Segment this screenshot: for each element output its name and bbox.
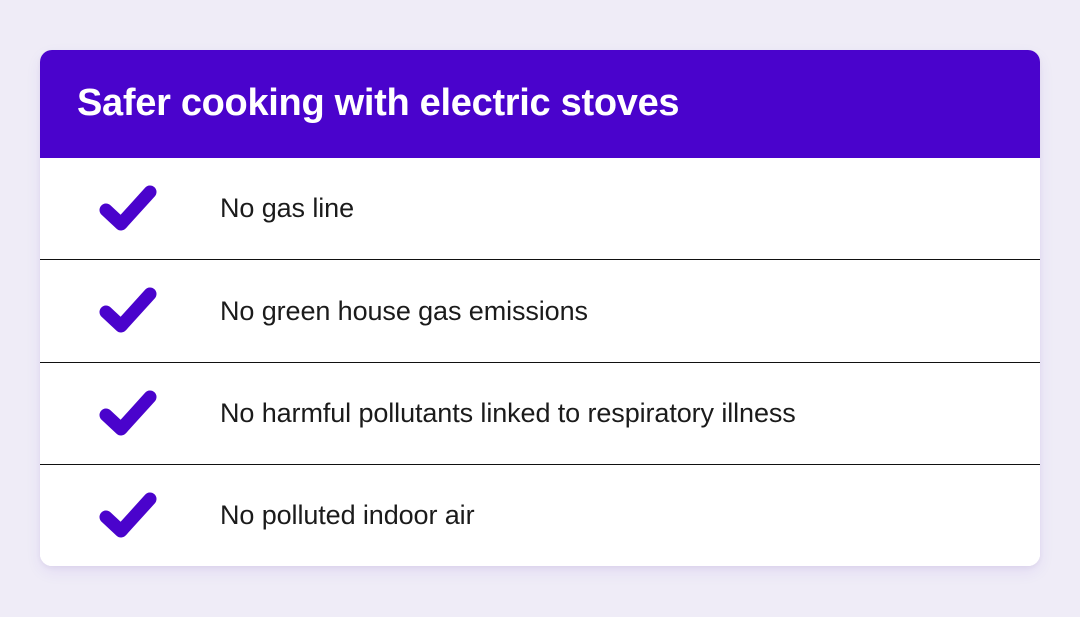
check-icon	[99, 287, 157, 334]
benefit-label: No gas line	[220, 192, 354, 224]
benefit-label: No harmful pollutants linked to respirat…	[220, 397, 796, 429]
check-cell	[40, 390, 220, 437]
benefit-row: No polluted indoor air	[40, 464, 1040, 566]
check-cell	[40, 287, 220, 334]
check-icon	[99, 185, 157, 232]
check-icon	[99, 390, 157, 437]
benefit-list: No gas line No green house gas emissions…	[40, 158, 1040, 566]
benefits-card: Safer cooking with electric stoves No ga…	[40, 50, 1040, 566]
check-cell	[40, 492, 220, 539]
check-cell	[40, 185, 220, 232]
check-icon	[99, 492, 157, 539]
page-canvas: Safer cooking with electric stoves No ga…	[0, 0, 1080, 617]
benefit-label: No polluted indoor air	[220, 499, 474, 531]
card-header: Safer cooking with electric stoves	[40, 50, 1040, 158]
benefit-row: No gas line	[40, 158, 1040, 259]
benefit-row: No harmful pollutants linked to respirat…	[40, 362, 1040, 464]
card-title: Safer cooking with electric stoves	[77, 84, 679, 124]
benefit-row: No green house gas emissions	[40, 259, 1040, 361]
benefit-label: No green house gas emissions	[220, 295, 588, 327]
